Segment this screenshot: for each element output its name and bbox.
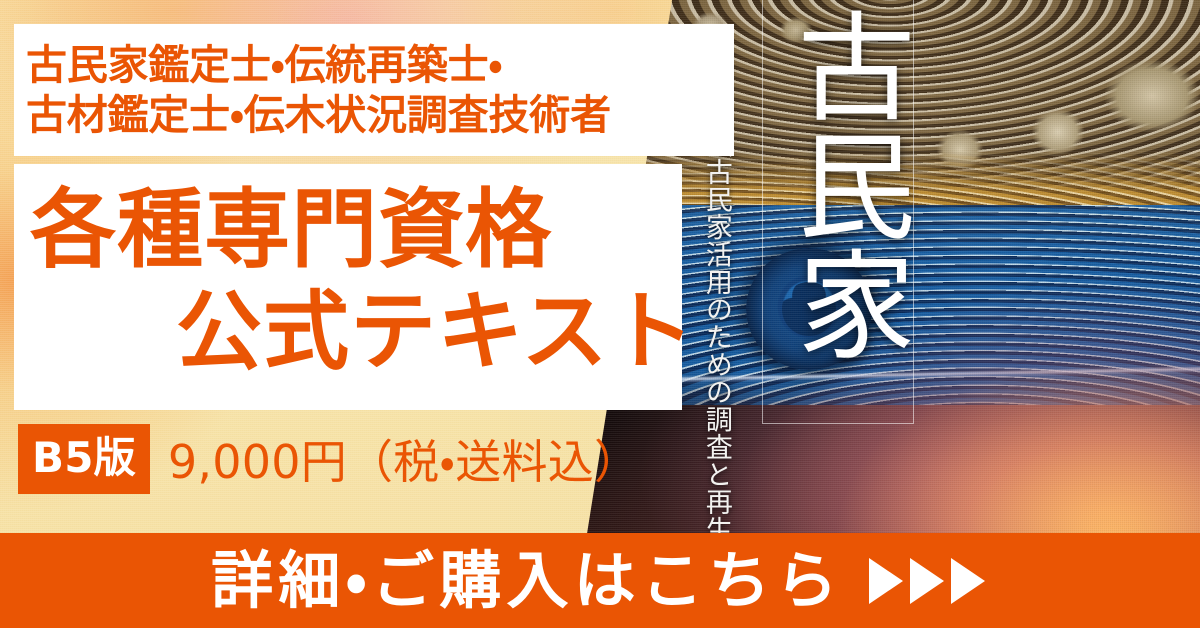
chevron-right-icon	[910, 558, 944, 604]
book-cover-subtitle-line2: 古民家活用のための調査と再生の	[702, 158, 732, 571]
price-amount: 9,000円（税・送料込）	[168, 426, 640, 492]
headline-line-1: 古民家鑑定士・伝統再築士・	[26, 40, 734, 90]
cta-bar[interactable]: 詳細・ご購入はこちら	[0, 533, 1200, 628]
book-cover-title: 古民家	[770, 6, 910, 364]
main-title-line-1: 各種専門資格	[30, 184, 552, 277]
headline-block: 古民家鑑定士・伝統再築士・ 古材鑑定士・伝木状況調査技術者	[20, 28, 734, 152]
cta-arrows	[869, 558, 1015, 604]
price-row: B5版 9,000円（税・送料込）	[18, 424, 640, 494]
promotional-banner: 古民家 伝統構法古民家活用のための調査と再生の 古民家鑑定士・伝統再築士・ 古材…	[0, 0, 1200, 628]
main-title-line-2: 公式テキスト	[176, 286, 696, 379]
chevron-right-icon	[869, 558, 903, 604]
format-badge: B5版	[18, 424, 150, 494]
main-title-block: 各種専門資格 公式テキスト	[14, 170, 682, 408]
chevron-right-icon	[951, 558, 985, 604]
headline-line-2: 古材鑑定士・伝木状況調査技術者	[26, 90, 734, 140]
cta-label: 詳細・ご購入はこちら	[185, 550, 843, 612]
